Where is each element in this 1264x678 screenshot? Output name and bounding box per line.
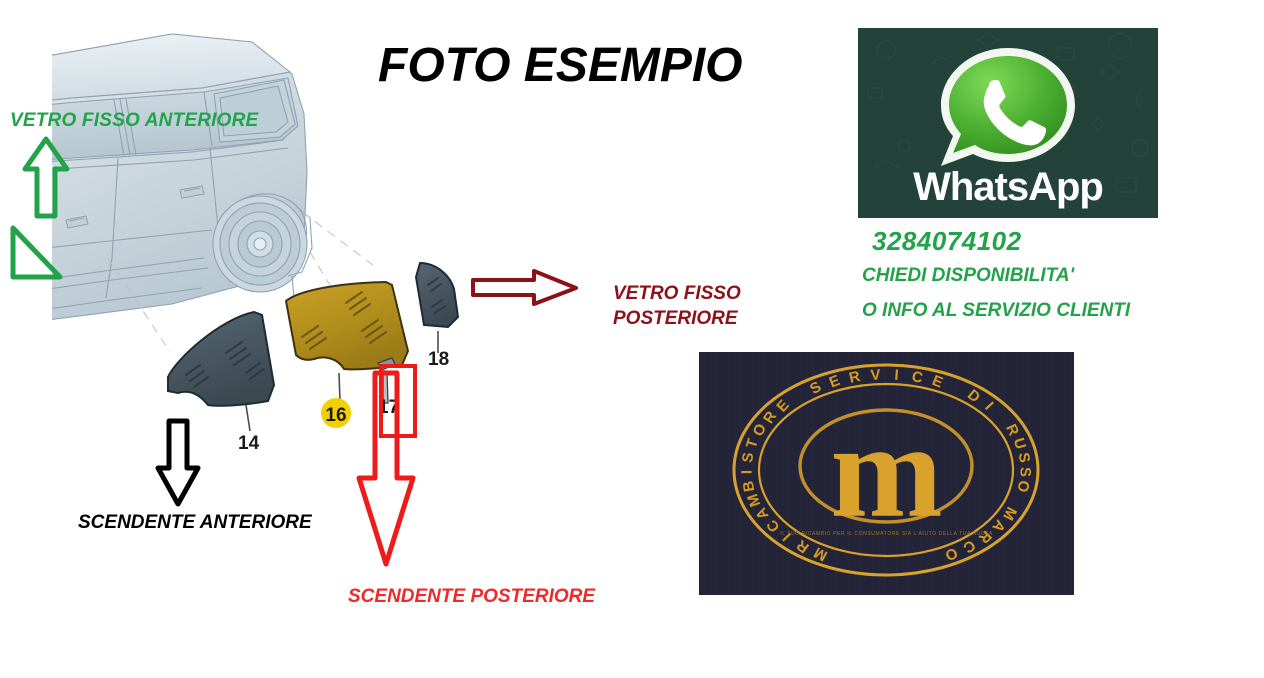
logo-arc-letter: V xyxy=(870,366,881,384)
logo-arc-letter: M xyxy=(811,543,830,564)
logo-arc-letter: O xyxy=(942,544,960,564)
logo-arc-letter xyxy=(950,380,962,397)
whatsapp-wordmark: WhatsApp xyxy=(858,165,1158,210)
logo-arc-letter: R xyxy=(847,368,861,387)
label-vetro-fisso-posteriore: VETRO FISSO POSTERIORE xyxy=(613,281,741,331)
black-down-arrow-icon xyxy=(155,418,201,508)
contact-line-1: CHIEDI DISPONIBILITA' xyxy=(862,265,1074,287)
label-vetro-fisso-posteriore-line1: VETRO FISSO xyxy=(613,281,741,306)
dark-red-right-arrow-icon xyxy=(470,268,580,308)
logo-tagline: IL TUO RICAMBIO PER IL CONSUMATORE SIA L… xyxy=(699,531,1074,537)
logo-monogram: m xyxy=(699,403,1074,538)
red-down-arrow-icon xyxy=(355,370,417,568)
logo-arc-letter: E xyxy=(827,372,843,391)
logo-arc-letter: C xyxy=(910,368,924,387)
whatsapp-banner: WhatsApp xyxy=(858,28,1158,218)
whatsapp-phone-number: 3284074102 xyxy=(872,226,1022,257)
poster-canvas: FOTO ESEMPIO xyxy=(0,0,1264,678)
contact-line-2: O INFO AL SERVIZIO CLIENTI xyxy=(862,300,1130,322)
whatsapp-logo-icon xyxy=(933,42,1083,174)
part-number-18: 18 xyxy=(428,349,449,371)
logo-arc-letter: I xyxy=(894,367,899,384)
label-scendente-posteriore: SCENDENTE POSTERIORE xyxy=(348,586,595,608)
logo-arc-letter: E xyxy=(930,372,946,391)
part-number-14: 14 xyxy=(238,433,259,455)
label-vetro-fisso-anteriore: VETRO FISSO ANTERIORE xyxy=(10,110,258,132)
label-scendente-anteriore: SCENDENTE ANTERIORE xyxy=(78,512,312,534)
logo-arc-letter: C xyxy=(960,536,979,556)
page-title: FOTO ESEMPIO xyxy=(378,38,743,93)
svg-text:16: 16 xyxy=(325,405,346,426)
logo-arc-letter: S xyxy=(807,378,824,398)
green-up-arrow-icon xyxy=(22,135,70,220)
logo-arc-letter xyxy=(791,388,805,404)
logo-arc-letter: R xyxy=(794,536,813,556)
green-triangle-icon xyxy=(8,224,64,282)
shop-logo-photo: MRICAMBISTORE SERVICE DI RUSSO MARCO m I… xyxy=(699,352,1074,595)
label-vetro-fisso-posteriore-line2: POSTERIORE xyxy=(613,306,741,331)
